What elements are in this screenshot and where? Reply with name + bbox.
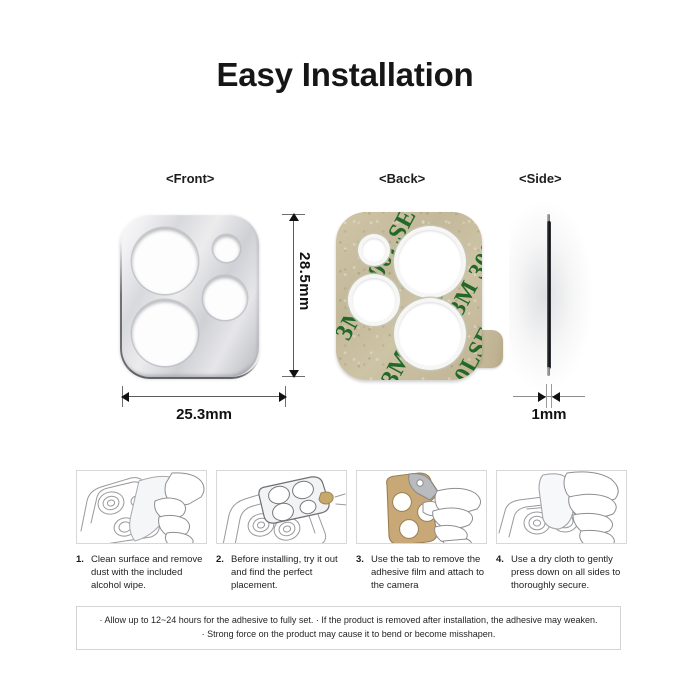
step-text: Before installing, try it out and find t… <box>231 553 347 592</box>
lens-hole-bottom-right <box>398 302 462 366</box>
dimension-label-height: 28.5mm <box>296 252 313 311</box>
arrow-right-icon <box>279 392 287 402</box>
arrow-right-icon <box>538 392 546 402</box>
view-label-front: <Front> <box>166 171 214 186</box>
step-illustration-press-with-cloth <box>496 470 627 544</box>
lens-hole-top-right <box>398 230 462 294</box>
page-title: Easy Installation <box>0 56 690 94</box>
lens-hole-bottom-left <box>132 300 198 366</box>
back-view-adhesive-side: 3M 3000LSE 3M 3000LSE 3000LSE 3M 3000LSE <box>336 212 482 380</box>
step-item: 4. Use a dry cloth to gently press down … <box>496 470 627 592</box>
step-text: Use a dry cloth to gently press down on … <box>511 553 627 592</box>
step-text: Use the tab to remove the adhesive film … <box>371 553 487 592</box>
dimension-label-thickness: 1mm <box>513 406 585 423</box>
footnote-line-2: · Strong force on the product may cause … <box>87 628 610 642</box>
dimension-tick-left <box>546 384 547 408</box>
step-number: 1. <box>76 553 91 592</box>
step-illustration-peel-adhesive-tab <box>356 470 487 544</box>
step-illustration-clean-surface <box>76 470 207 544</box>
dimension-line-thickness <box>513 396 585 397</box>
adhesive-liner: 3M 3000LSE 3M 3000LSE 3000LSE 3M 3000LSE <box>336 212 482 380</box>
arrow-left-icon <box>121 392 129 402</box>
step-number: 4. <box>496 553 511 592</box>
arrow-left-icon <box>552 392 560 402</box>
footnote-line-1: · Allow up to 12~24 hours for the adhesi… <box>87 614 610 628</box>
step-number: 3. <box>356 553 371 592</box>
dimension-label-width: 25.3mm <box>122 406 286 423</box>
dimension-line-height <box>293 214 294 377</box>
view-label-side: <Side> <box>519 171 562 186</box>
side-view-profile <box>545 213 552 377</box>
installation-steps: 1. Clean surface and remove dust with th… <box>76 470 621 592</box>
lens-hole-top-left <box>132 228 198 294</box>
flash-hole <box>213 235 240 262</box>
dimension-line-width <box>122 396 286 397</box>
front-view-lens-protector <box>120 214 259 377</box>
side-edge-body <box>547 221 551 369</box>
flash-hole <box>362 238 386 262</box>
lens-hole-left <box>352 278 396 322</box>
step-item: 1. Clean surface and remove dust with th… <box>76 470 207 592</box>
step-illustration-test-placement <box>216 470 347 544</box>
side-edge-highlight-bottom <box>547 367 550 376</box>
arrow-up-icon <box>289 213 299 221</box>
arrow-down-icon <box>289 370 299 378</box>
step-item: 2. Before installing, try it out and fin… <box>216 470 347 592</box>
view-label-back: <Back> <box>379 171 425 186</box>
lens-hole-right <box>203 276 247 320</box>
footnote-box: · Allow up to 12~24 hours for the adhesi… <box>76 606 621 650</box>
step-item: 3. Use the tab to remove the adhesive fi… <box>356 470 487 592</box>
step-number: 2. <box>216 553 231 592</box>
step-text: Clean surface and remove dust with the i… <box>91 553 207 592</box>
